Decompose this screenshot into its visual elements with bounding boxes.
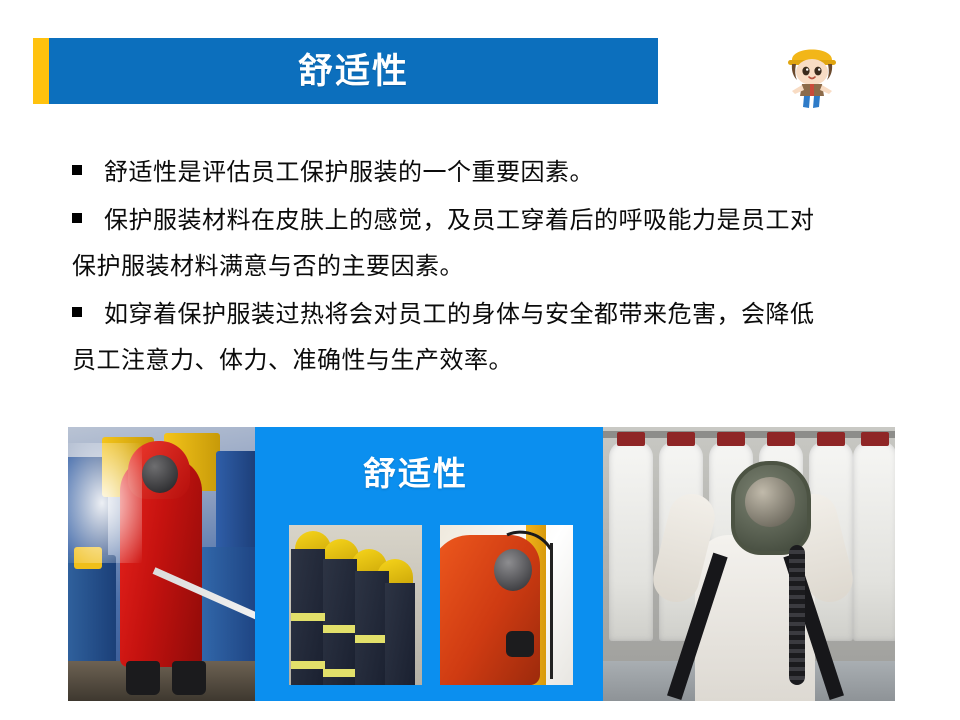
bullet-marker-icon xyxy=(72,165,82,175)
title-panel: 舒适性 xyxy=(49,38,658,104)
bullet-item: 保护服装材料在皮肤上的感觉，及员工穿着后的呼吸能力是员工对 保护服装材料满意与否… xyxy=(72,198,912,290)
photo-ground xyxy=(68,661,255,701)
page-title: 舒适性 xyxy=(298,54,409,89)
bullet-lines: 舒适性是评估员工保护服装的一个重要因素。 xyxy=(104,150,912,196)
bullet-marker-icon xyxy=(72,213,82,223)
collage-caption: 舒适性 xyxy=(363,447,468,495)
construction-worker-mascot-icon xyxy=(780,34,844,108)
bullet-lines: 保护服装材料在皮肤上的感觉，及员工穿着后的呼吸能力是员工对 保护服装材料满意与否… xyxy=(104,198,912,290)
photo-hazmat-orange-suit xyxy=(440,525,573,685)
bullet-line: 保护服装材料满意与否的主要因素。 xyxy=(72,244,912,290)
bullet-line: 保护服装材料在皮肤上的感觉，及员工穿着后的呼吸能力是员工对 xyxy=(104,198,912,244)
photo-hazmat-red-suit xyxy=(68,427,255,701)
photo-respirator-donning xyxy=(603,427,895,701)
bullet-item: 舒适性是评估员工保护服装的一个重要因素。 xyxy=(72,150,912,196)
image-collage: 舒适性 xyxy=(68,427,895,701)
bullet-line: 如穿着保护服装过热将会对员工的身体与安全都带来危害，会降低 xyxy=(104,292,912,338)
bullet-marker-icon xyxy=(72,307,82,317)
title-accent-bar xyxy=(33,38,50,104)
bullet-line: 员工注意力、体力、准确性与生产效率。 xyxy=(72,338,912,384)
slide-title-bar: 舒适性 xyxy=(33,38,658,104)
bullet-item: 如穿着保护服装过热将会对员工的身体与安全都带来危害，会降低 员工注意力、体力、准… xyxy=(72,292,912,384)
slide-body: 舒适性是评估员工保护服装的一个重要因素。 保护服装材料在皮肤上的感觉，及员工穿着… xyxy=(72,150,912,386)
photo-turnout-gear xyxy=(289,525,422,685)
bullet-lines: 如穿着保护服装过热将会对员工的身体与安全都带来危害，会降低 员工注意力、体力、准… xyxy=(104,292,912,384)
bullet-line: 舒适性是评估员工保护服装的一个重要因素。 xyxy=(104,150,912,196)
